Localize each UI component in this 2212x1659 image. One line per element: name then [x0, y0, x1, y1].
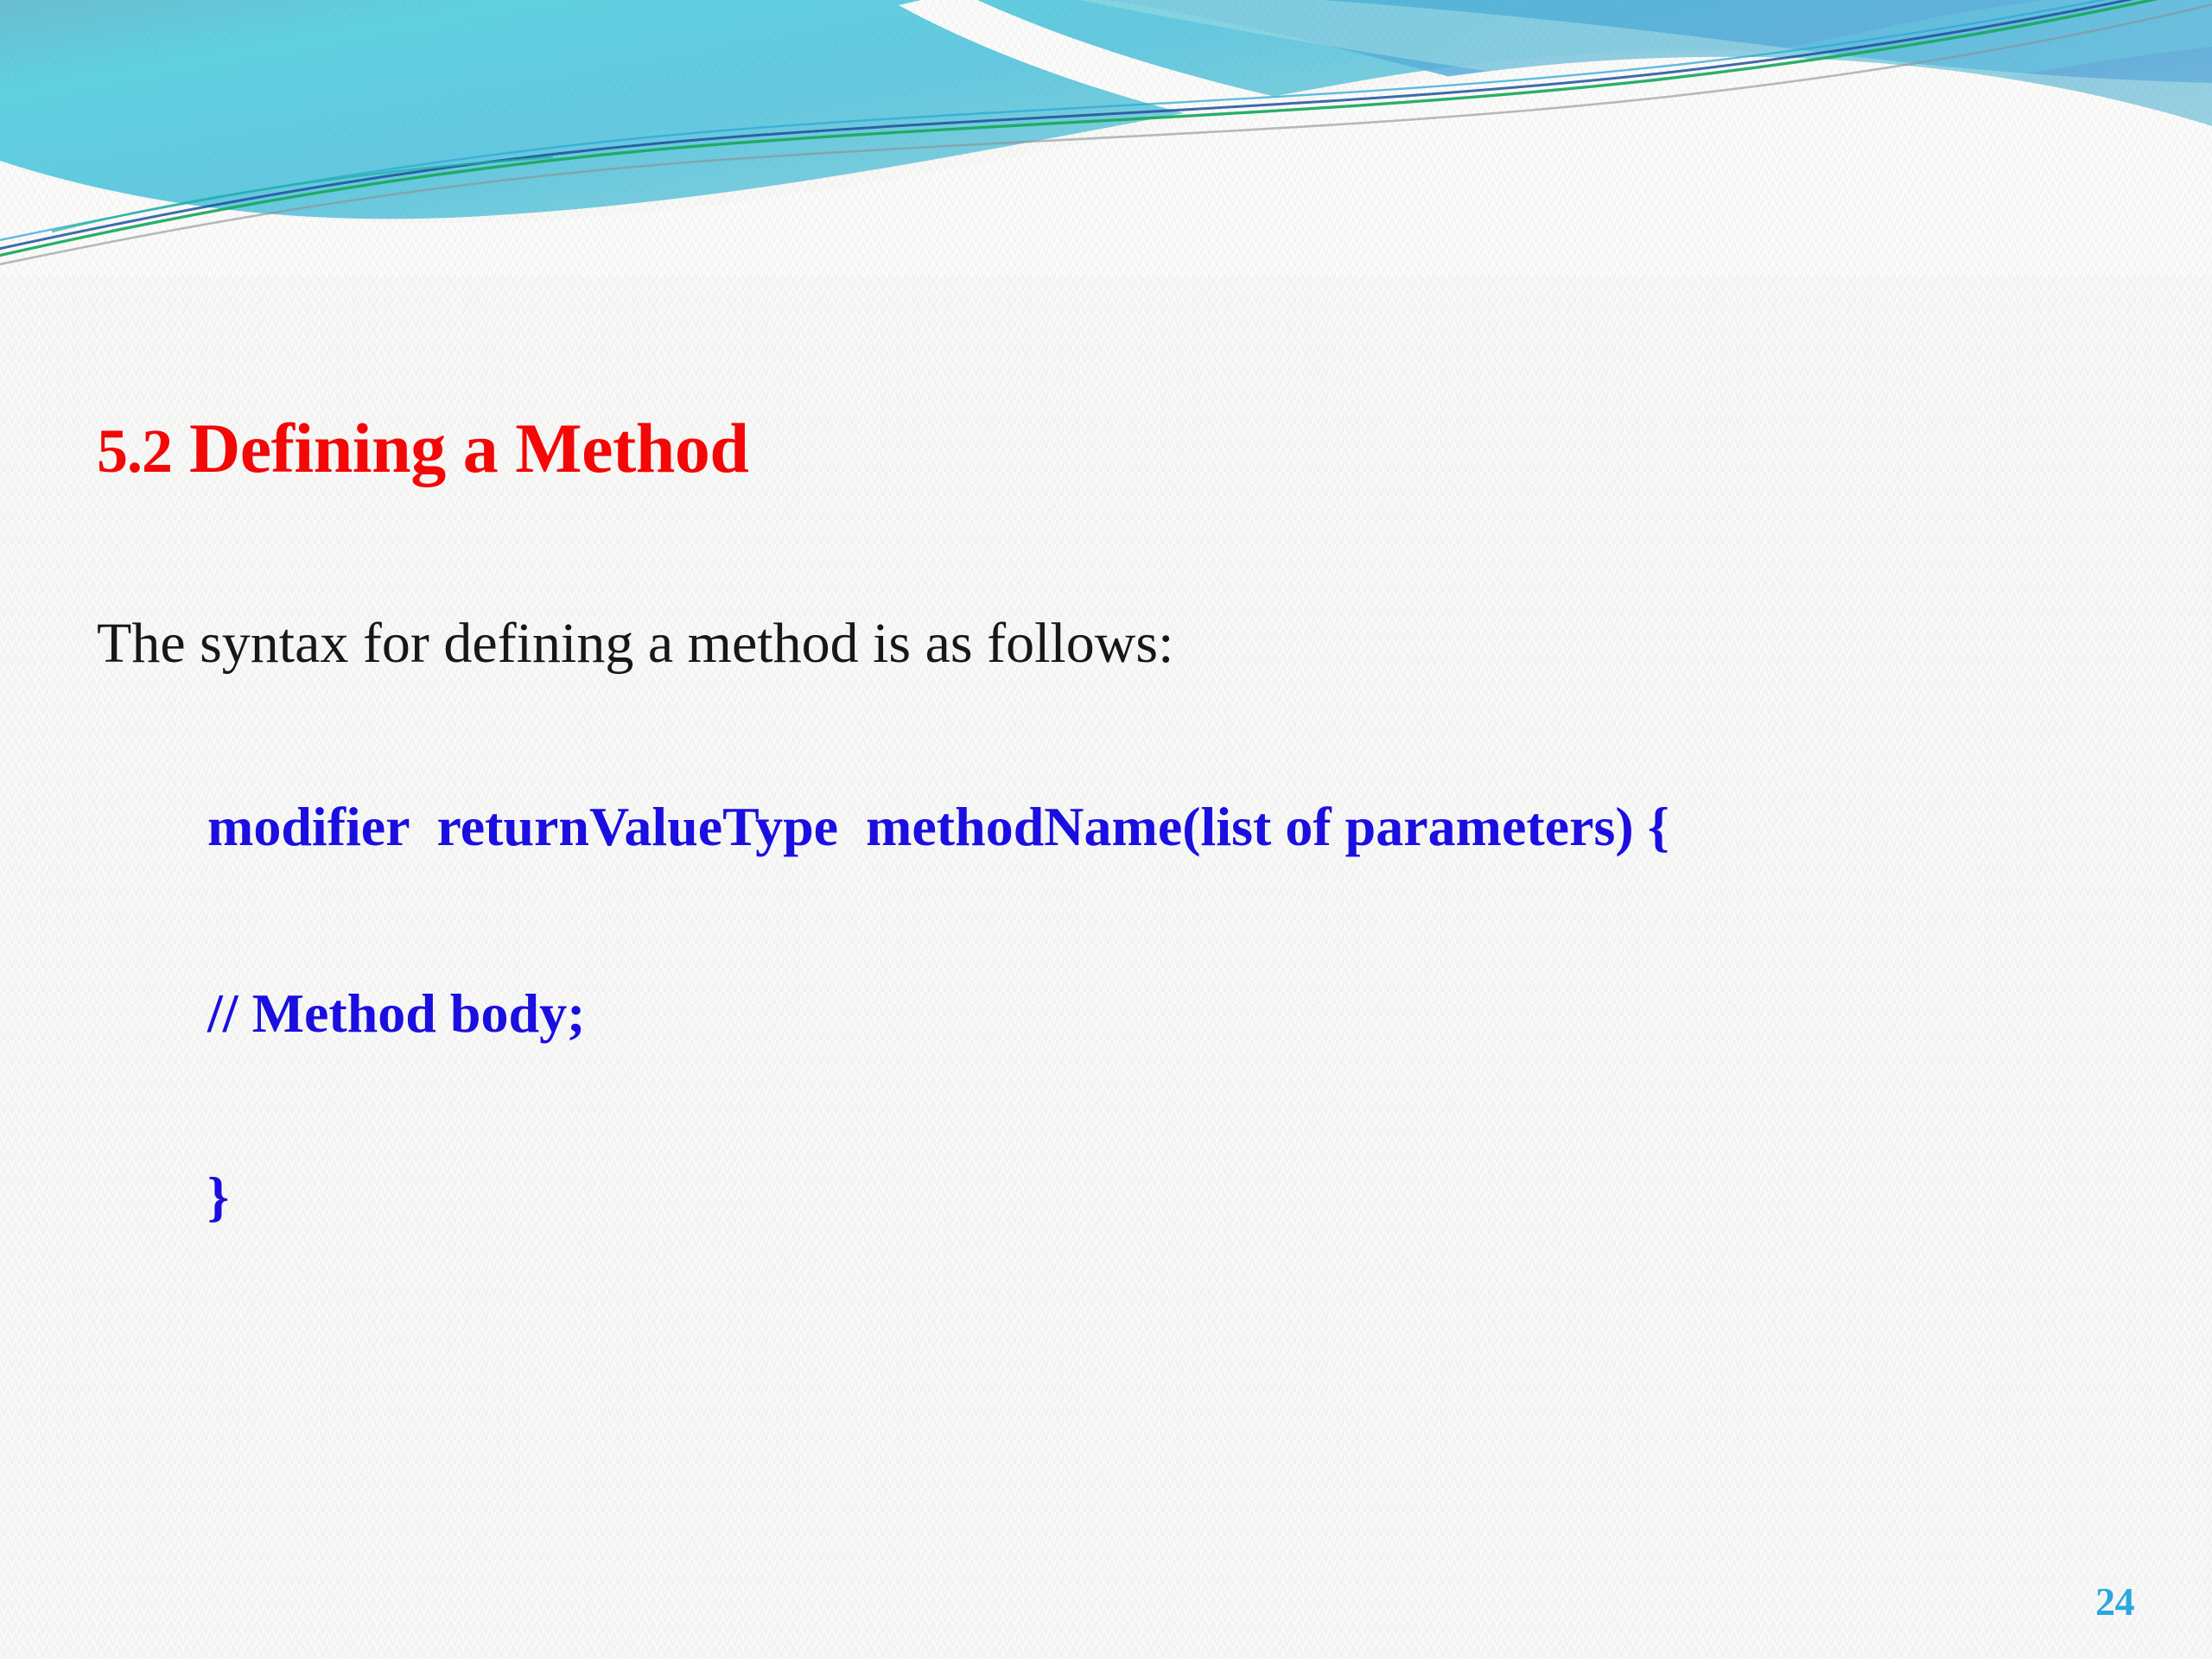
code-line-body-comment: // Method body;: [207, 986, 2108, 1041]
title-text: Defining a Method: [189, 409, 749, 487]
slide-content: 5.2 Defining a Method The syntax for def…: [0, 0, 2212, 1659]
title-number: 5.2: [97, 416, 172, 486]
page-title: 5.2 Defining a Method: [97, 413, 749, 484]
code-line-closing-brace: }: [207, 1169, 2108, 1224]
code-line-signature: modifier returnValueType methodName(list…: [207, 799, 2108, 855]
page-number: 24: [2095, 1579, 2134, 1624]
presentation-slide: 5.2 Defining a Method The syntax for def…: [0, 0, 2212, 1659]
intro-paragraph: The syntax for defining a method is as f…: [97, 615, 1173, 672]
code-syntax-block: modifier returnValueType methodName(list…: [207, 799, 2108, 1224]
